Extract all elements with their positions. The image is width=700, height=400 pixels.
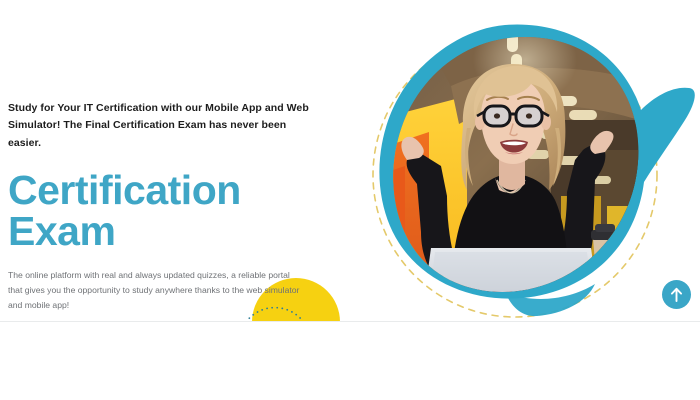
landing-page: Study for Your IT Certification with our… [0, 0, 700, 400]
page-whitespace-below [0, 322, 700, 400]
hero-section: Study for Your IT Certification with our… [0, 0, 700, 322]
headline-line-2: Exam [8, 211, 318, 252]
hero-photo [375, 16, 675, 320]
headline-line-1: Certification [8, 167, 241, 213]
hero-copy: Study for Your IT Certification with our… [8, 100, 318, 322]
hero-artwork [355, 0, 700, 322]
page-title: Certification Exam [8, 170, 318, 251]
hero-eyebrow: Study for Your IT Certification with our… [8, 100, 318, 152]
arrow-up-icon [670, 287, 683, 302]
hero-description: The online platform with real and always… [8, 268, 300, 312]
section-separator [0, 321, 700, 322]
scroll-to-top-button[interactable] [662, 280, 691, 309]
